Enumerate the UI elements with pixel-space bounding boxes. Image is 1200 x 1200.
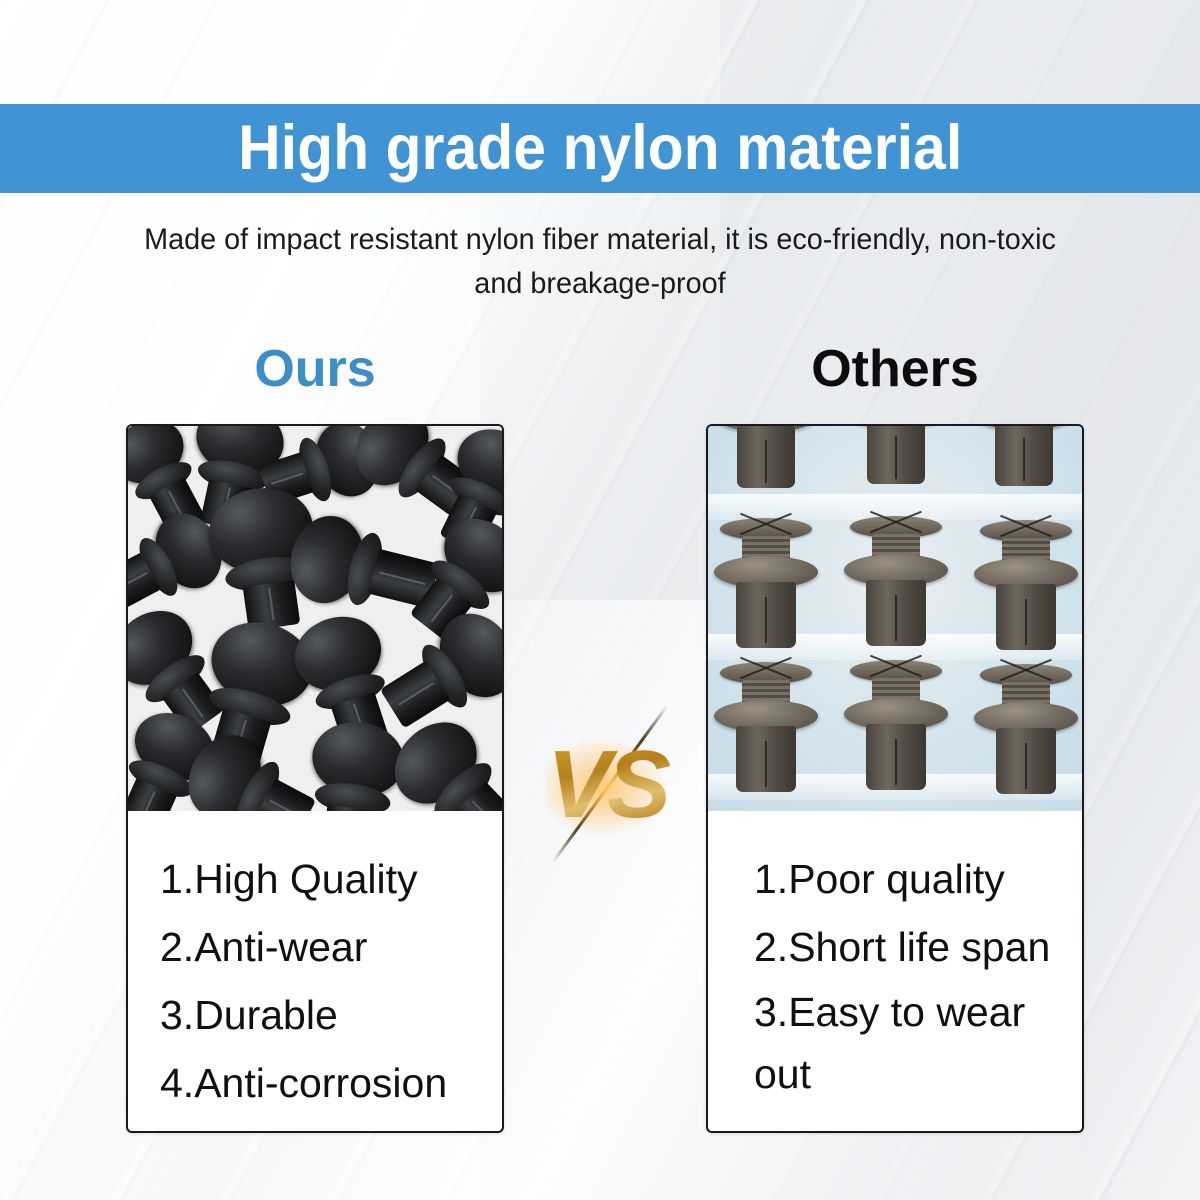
list-item: 3.Easy to wear out bbox=[708, 981, 1082, 1105]
title-banner: High grade nylon material bbox=[0, 104, 1200, 193]
rivet-clip bbox=[710, 518, 822, 650]
column-heading-others: Others bbox=[705, 338, 1085, 400]
rivet-clip bbox=[970, 664, 1082, 796]
product-photo-ours bbox=[128, 426, 502, 811]
rivet-clip bbox=[842, 426, 950, 488]
vs-badge: VS bbox=[527, 700, 687, 870]
rivet-scatter-ours bbox=[128, 426, 502, 811]
list-item: 3.Durable bbox=[128, 981, 502, 1049]
list-item: 1.Poor quality bbox=[708, 845, 1082, 913]
infographic-page: High grade nylon material Made of impact… bbox=[0, 0, 1200, 1200]
comparison-card-ours: 1.High Quality 2.Anti-wear 3.Durable 4.A… bbox=[126, 424, 504, 1133]
rivet-clip bbox=[840, 660, 952, 792]
list-item: 2.Anti-wear bbox=[128, 913, 502, 981]
comparison-card-others: 1.Poor quality 2.Short life span 3.Easy … bbox=[706, 424, 1084, 1133]
list-item: 4.Anti-corrosion bbox=[128, 1049, 502, 1117]
list-item: 1.High Quality bbox=[128, 845, 502, 913]
subtitle-text: Made of impact resistant nylon fiber mat… bbox=[120, 218, 1080, 306]
rivet-clip bbox=[970, 426, 1078, 490]
feature-list-others: 1.Poor quality 2.Short life span 3.Easy … bbox=[708, 811, 1082, 1133]
rivet-clip bbox=[840, 516, 952, 648]
list-item: 2.Short life span bbox=[708, 913, 1082, 981]
product-photo-others bbox=[708, 426, 1082, 811]
feature-list-ours: 1.High Quality 2.Anti-wear 3.Durable 4.A… bbox=[128, 811, 502, 1133]
rivet-clip bbox=[970, 520, 1082, 652]
column-heading-ours: Ours bbox=[125, 338, 505, 400]
rivet-clip bbox=[710, 662, 822, 794]
rivet-clip bbox=[712, 426, 820, 492]
vs-label: VS bbox=[527, 700, 687, 870]
page-title: High grade nylon material bbox=[238, 117, 962, 180]
